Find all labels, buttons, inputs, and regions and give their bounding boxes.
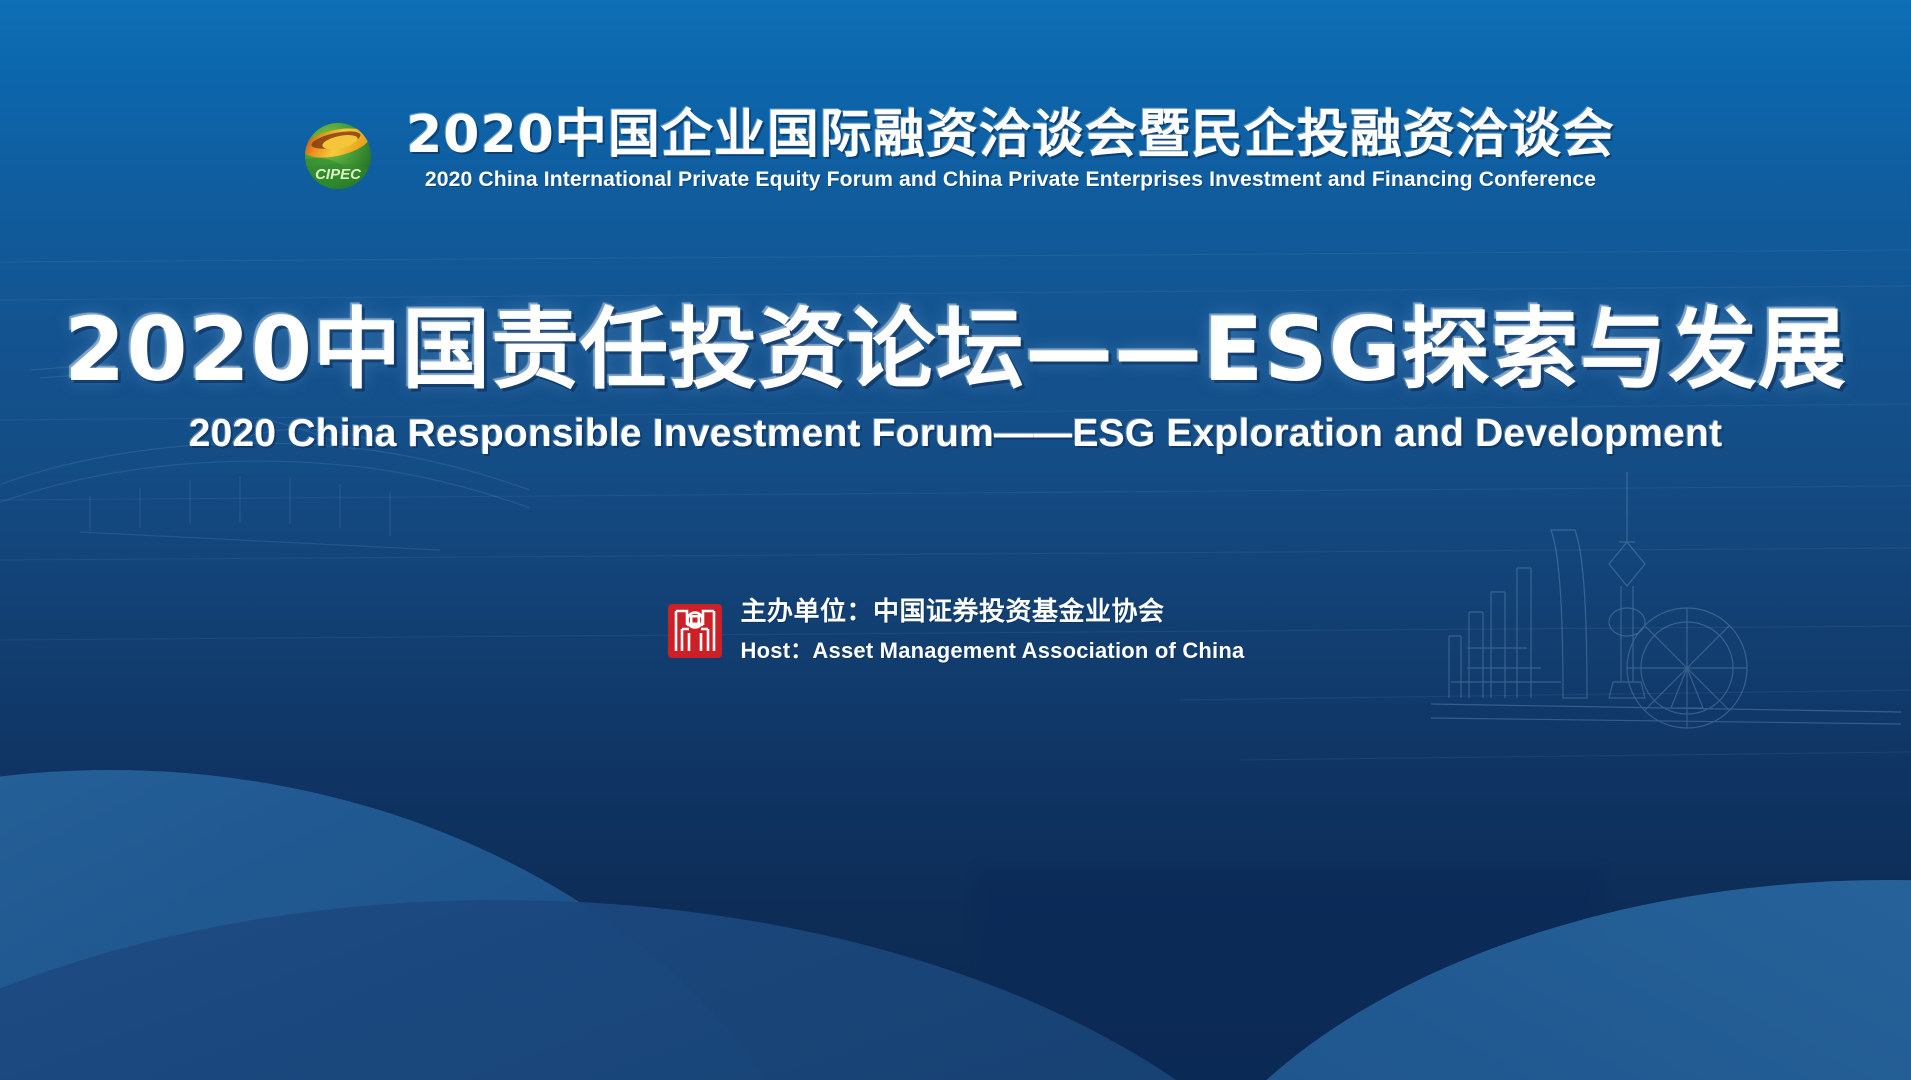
cipec-logo: CIPEC (296, 112, 380, 196)
background-wave-shadow (980, 870, 1600, 1080)
background-wave-right (1140, 880, 1911, 1080)
conference-title-en: 2020 China International Private Equity … (425, 167, 1596, 192)
host-line-cn: 主办单位：中国证券投资基金业协会 (741, 597, 1165, 628)
background-wave-light (0, 770, 860, 1080)
forum-poster: CIPEC 2020中国企业国际融资洽谈会暨民企投融资洽谈会 2020 Chin… (0, 0, 1911, 1080)
background-wave-mid (0, 900, 1380, 1080)
host-block: 主办单位：中国证券投资基金业协会 Host：Asset Management A… (0, 597, 1911, 665)
conference-title-cn: 2020中国企业国际融资洽谈会暨民企投融资洽谈会 (406, 108, 1615, 163)
forum-title-en: 2020 China Responsible Investment Forum—… (189, 412, 1723, 456)
forum-title-block: 2020中国责任投资论坛——ESG探索与发展 2020 China Respon… (0, 300, 1911, 456)
host-line-en: Host：Asset Management Association of Chi… (741, 633, 1245, 665)
conference-header: CIPEC 2020中国企业国际融资洽谈会暨民企投融资洽谈会 2020 Chin… (0, 108, 1911, 192)
svg-text:CIPEC: CIPEC (315, 166, 362, 183)
forum-title-cn: 2020中国责任投资论坛——ESG探索与发展 (64, 300, 1847, 400)
amac-logo (667, 603, 723, 659)
